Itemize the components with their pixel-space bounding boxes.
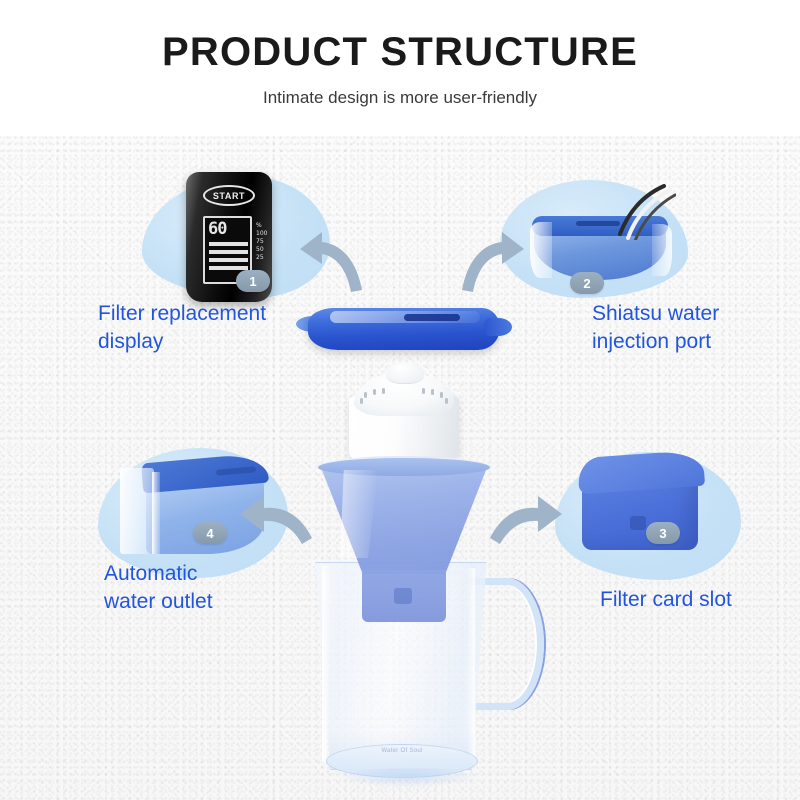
scale-tick-25: 25 [256,254,272,262]
callout-label-2-line2: injection port [592,328,792,356]
callout-label-1-line2: display [98,328,318,356]
scale-tick-100: 100 [256,230,272,238]
filter-card-slot-detail [570,450,710,560]
lid-tip-right [484,318,512,336]
scale-tick-75: 75 [256,238,272,246]
callout-label-3: Filter card slot [600,586,800,614]
callout-label-2-line1: Shiatsu water [592,300,792,328]
callout-label-4: Automatic water outlet [104,560,304,615]
lid-injection-slot [404,314,460,321]
lcd-reading: 60 [208,221,247,238]
callout-label-4-line2: water outlet [104,588,304,616]
cartridge-cap [386,362,424,384]
page-title: PRODUCT STRUCTURE [0,30,800,75]
callout-badge-2: 2 [570,272,604,294]
callout-badge-4: 4 [193,522,227,544]
start-button[interactable]: START [203,185,255,206]
lcd-level-bars [209,242,248,274]
page-subtitle: Intimate design is more user-friendly [0,88,800,108]
arrow-to-injection-port-icon [452,232,524,296]
water-stream-icon [606,184,676,240]
arrow-to-card-slot-icon [488,492,562,548]
product-lid [296,300,512,356]
callout-label-3-line1: Filter card slot [600,586,800,614]
outlet-glass-panel [120,468,154,554]
injection-port-detail [528,200,672,282]
card-slot-nub [630,516,646,530]
outlet-edge-highlight [152,472,160,554]
funnel-nub [394,588,412,604]
arrow-to-water-outlet-icon [240,492,314,548]
cartridge-vents [360,388,448,404]
callout-label-1: Filter replacement display [98,300,318,355]
product-funnel [318,452,490,622]
arrow-to-display-icon [300,232,372,296]
filter-cartridge [346,362,462,464]
callout-label-4-line1: Automatic [104,560,304,588]
lcd-scale: % 100 75 50 25 [256,222,272,262]
callout-badge-3: 3 [646,522,680,544]
callout-label-1-line1: Filter replacement [98,300,318,328]
callout-label-2: Shiatsu water injection port [592,300,792,355]
header-band: PRODUCT STRUCTURE Intimate design is mor… [0,0,800,136]
glass-highlight-left [530,222,552,278]
pitcher-shadow [334,768,480,788]
callout-badge-1: 1 [236,270,270,292]
scale-tick-50: 50 [256,246,272,254]
infographic-canvas: START 60 % 100 75 50 25 [0,0,800,800]
pitcher-brand-mark: Water Of Soul [352,748,452,754]
scale-unit: % [256,222,272,230]
